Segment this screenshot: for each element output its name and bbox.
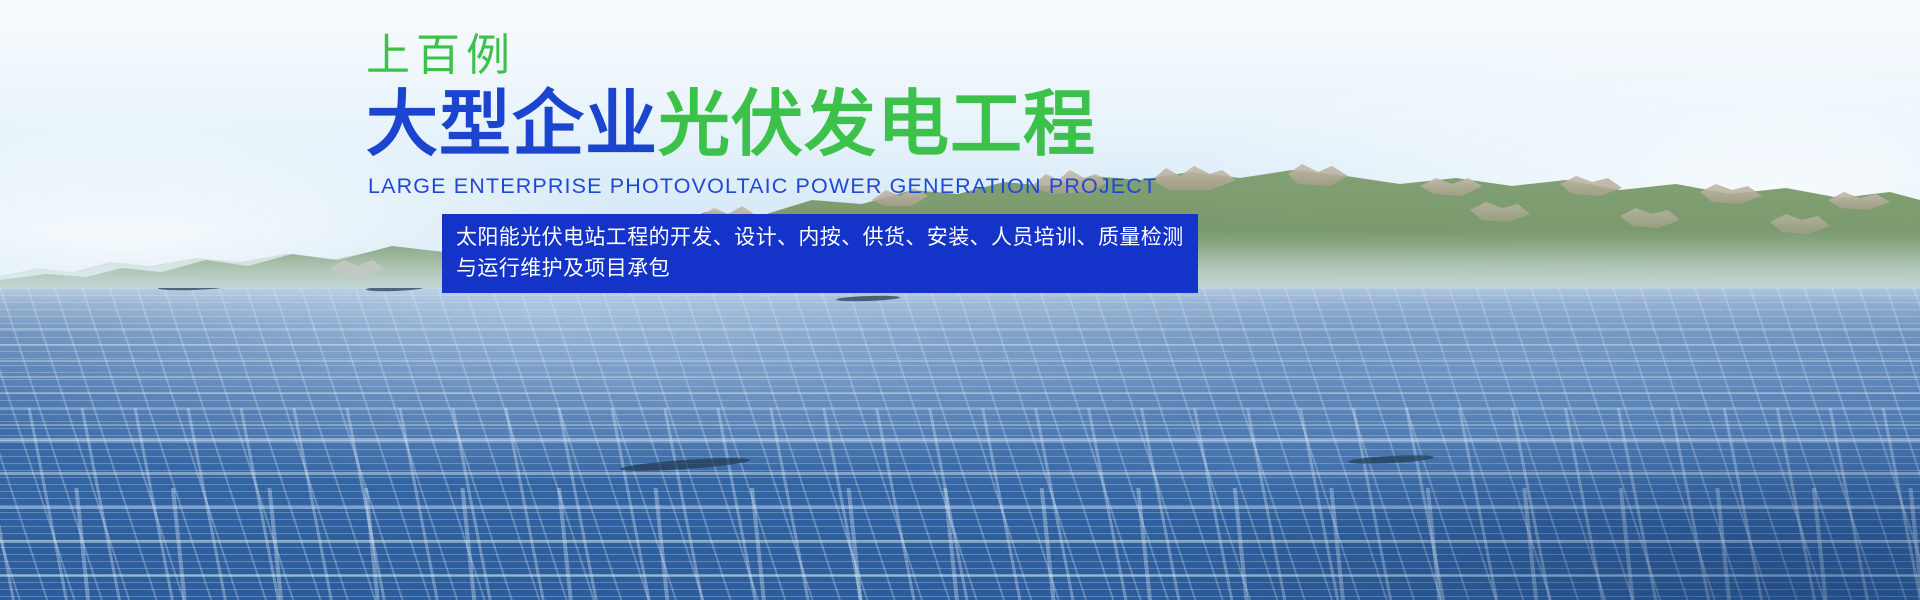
panel-shadow-corner xyxy=(1100,410,1920,600)
description-box: 太阳能光伏电站工程的开发、设计、内按、供货、安装、人员培训、质量检测 与运行维护… xyxy=(442,214,1198,293)
eyebrow-text: 上百例 xyxy=(366,34,1126,78)
headline-segment-green: 光伏发电工程 xyxy=(658,85,1096,165)
page-title: 大型企业光伏发电工程 xyxy=(366,88,1126,164)
description-line-2: 与运行维护及项目承包 xyxy=(456,253,1184,284)
description-line-1: 太阳能光伏电站工程的开发、设计、内按、供货、安装、人员培训、质量检测 xyxy=(456,222,1184,253)
banner-text-block: 上百例 大型企业光伏发电工程 LARGE ENTERPRISE PHOTOVOL… xyxy=(366,34,1126,293)
solar-panel-field xyxy=(0,288,1920,600)
headline-segment-blue: 大型企业 xyxy=(366,85,658,165)
solar-project-banner: 上百例 大型企业光伏发电工程 LARGE ENTERPRISE PHOTOVOL… xyxy=(0,0,1920,600)
english-subtitle: LARGE ENTERPRISE PHOTOVOLTAIC POWER GENE… xyxy=(368,176,1126,198)
